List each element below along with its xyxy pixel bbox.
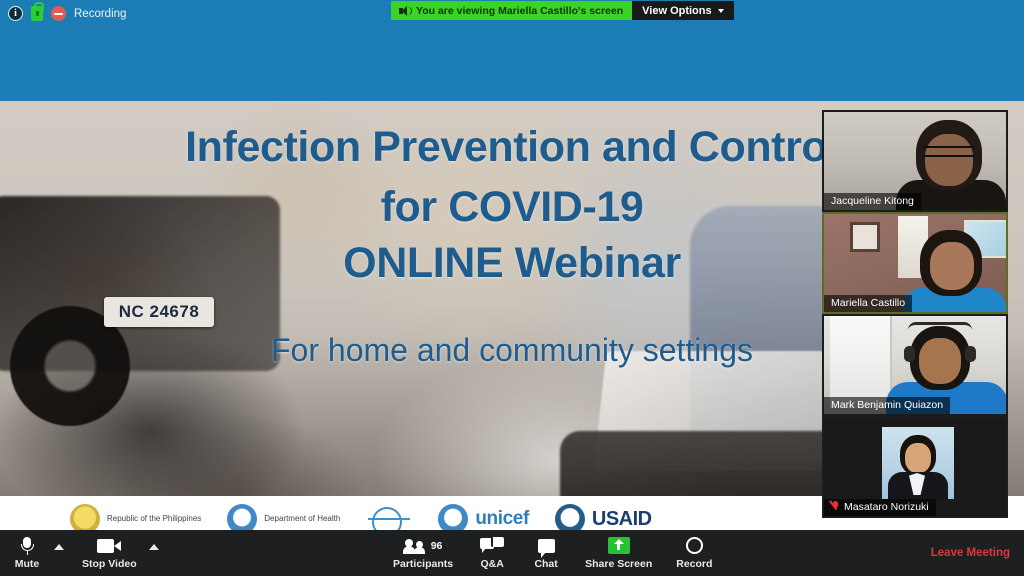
video-tile-jacqueline-kitong[interactable]: Jacqueline Kitong xyxy=(822,110,1008,212)
record-circle-icon xyxy=(686,536,703,555)
share-screen-label: Share Screen xyxy=(585,558,652,570)
speaker-icon xyxy=(399,6,411,16)
logo-usaid: USAID xyxy=(555,504,652,530)
share-screen-icon xyxy=(608,536,630,555)
speech-bubbles-icon xyxy=(480,536,504,555)
window-blind-shape xyxy=(830,316,892,408)
camera-icon xyxy=(97,536,121,555)
viewing-screen-text: You are viewing Mariella Castillo's scre… xyxy=(416,5,623,17)
usaid-seal-icon xyxy=(555,504,585,530)
logo-world-health-organization xyxy=(366,504,412,530)
unicef-seal-icon xyxy=(438,504,468,530)
chat-button[interactable]: Chat xyxy=(519,530,573,576)
chat-bubble-icon xyxy=(538,536,555,555)
headset-earcup-right-shape xyxy=(965,346,976,362)
viewing-screen-pill: You are viewing Mariella Castillo's scre… xyxy=(391,1,632,20)
participant-name-text: Masataro Norizuki xyxy=(844,501,929,513)
meeting-toolbar: Mute Stop Video 96 Participants xyxy=(0,530,1024,576)
video-tile-masataro-norizuki[interactable]: Masataro Norizuki xyxy=(822,416,1008,518)
participant-name-label: Mariella Castillo xyxy=(824,295,912,312)
chevron-up-icon xyxy=(149,544,159,550)
lock-icon[interactable] xyxy=(31,6,43,21)
participants-count: 96 xyxy=(431,540,443,552)
chat-label: Chat xyxy=(534,558,557,570)
blue-seal-icon xyxy=(227,504,257,530)
person-face-shape xyxy=(919,338,961,384)
zoom-meeting-window: NC 24678 Infection Prevention and Contro… xyxy=(0,0,1024,576)
mute-button[interactable]: Mute xyxy=(0,530,54,576)
usaid-wordmark: USAID xyxy=(592,508,652,531)
person-face-shape xyxy=(925,134,973,186)
avatar xyxy=(882,427,954,499)
people-icon: 96 xyxy=(404,536,443,555)
share-screen-button[interactable]: Share Screen xyxy=(573,530,664,576)
participants-button[interactable]: 96 Participants xyxy=(381,530,465,576)
person-face-shape xyxy=(905,443,931,473)
microphone-icon xyxy=(22,536,33,555)
record-button[interactable]: Record xyxy=(664,530,724,576)
mute-label: Mute xyxy=(15,558,40,570)
who-icon xyxy=(366,504,412,530)
participant-name-label: Jacqueline Kitong xyxy=(824,193,921,210)
qa-label: Q&A xyxy=(480,558,503,570)
participant-name-text: Jacqueline Kitong xyxy=(831,195,914,207)
recording-dot-icon[interactable] xyxy=(51,6,66,21)
record-label: Record xyxy=(676,558,712,570)
screenshare-banner: You are viewing Mariella Castillo's scre… xyxy=(391,1,734,20)
view-options-label: View Options xyxy=(642,5,711,17)
info-icon[interactable]: i xyxy=(8,6,23,21)
participant-name-label: Mark Benjamin Quiazon xyxy=(824,397,950,414)
stop-video-button[interactable]: Stop Video xyxy=(70,530,149,576)
participant-name-text: Mark Benjamin Quiazon xyxy=(831,399,943,411)
mic-muted-icon xyxy=(831,501,839,513)
person-face-shape xyxy=(930,242,974,290)
logo-unicef: unicef xyxy=(438,504,529,530)
chevron-up-icon xyxy=(54,544,64,550)
eyeglasses-shape xyxy=(923,146,975,157)
chevron-down-icon xyxy=(718,9,724,13)
stop-video-label: Stop Video xyxy=(82,558,137,570)
meeting-status-bar: i Recording xyxy=(8,6,126,21)
headset-earcup-left-shape xyxy=(904,346,915,362)
unicef-wordmark: unicef xyxy=(475,508,529,530)
view-options-button[interactable]: View Options xyxy=(632,1,733,20)
leave-meeting-button[interactable]: Leave Meeting xyxy=(931,547,1010,559)
logo-caption: Department of Health xyxy=(264,514,340,523)
participant-name-label: Masataro Norizuki xyxy=(824,499,936,516)
participant-video-filmstrip: Jacqueline Kitong Mariella Castillo xyxy=(822,110,1008,518)
recording-label: Recording xyxy=(74,8,126,20)
participant-name-text: Mariella Castillo xyxy=(831,297,905,309)
headset-band-shape xyxy=(908,322,972,330)
qa-button[interactable]: Q&A xyxy=(465,530,519,576)
video-tile-mark-benjamin-quiazon[interactable]: Mark Benjamin Quiazon xyxy=(822,314,1008,416)
logo-department-of-health: Department of Health xyxy=(227,504,340,530)
participants-label: Participants xyxy=(393,558,453,570)
wall-frame-shape xyxy=(850,222,880,252)
logo-republic-philippines: Republic of the Philippines xyxy=(70,504,201,530)
logo-caption: Republic of the Philippines xyxy=(107,514,201,523)
toolbar-center-group: 96 Participants Q&A Chat Share xyxy=(381,530,724,576)
video-tile-mariella-castillo[interactable]: Mariella Castillo xyxy=(822,212,1008,314)
gold-seal-icon xyxy=(70,504,100,530)
toolbar-right-group: Leave Meeting xyxy=(931,530,1010,576)
toolbar-left-group: Mute Stop Video xyxy=(0,530,165,576)
audio-options-button[interactable] xyxy=(54,530,70,576)
video-options-button[interactable] xyxy=(149,530,165,576)
